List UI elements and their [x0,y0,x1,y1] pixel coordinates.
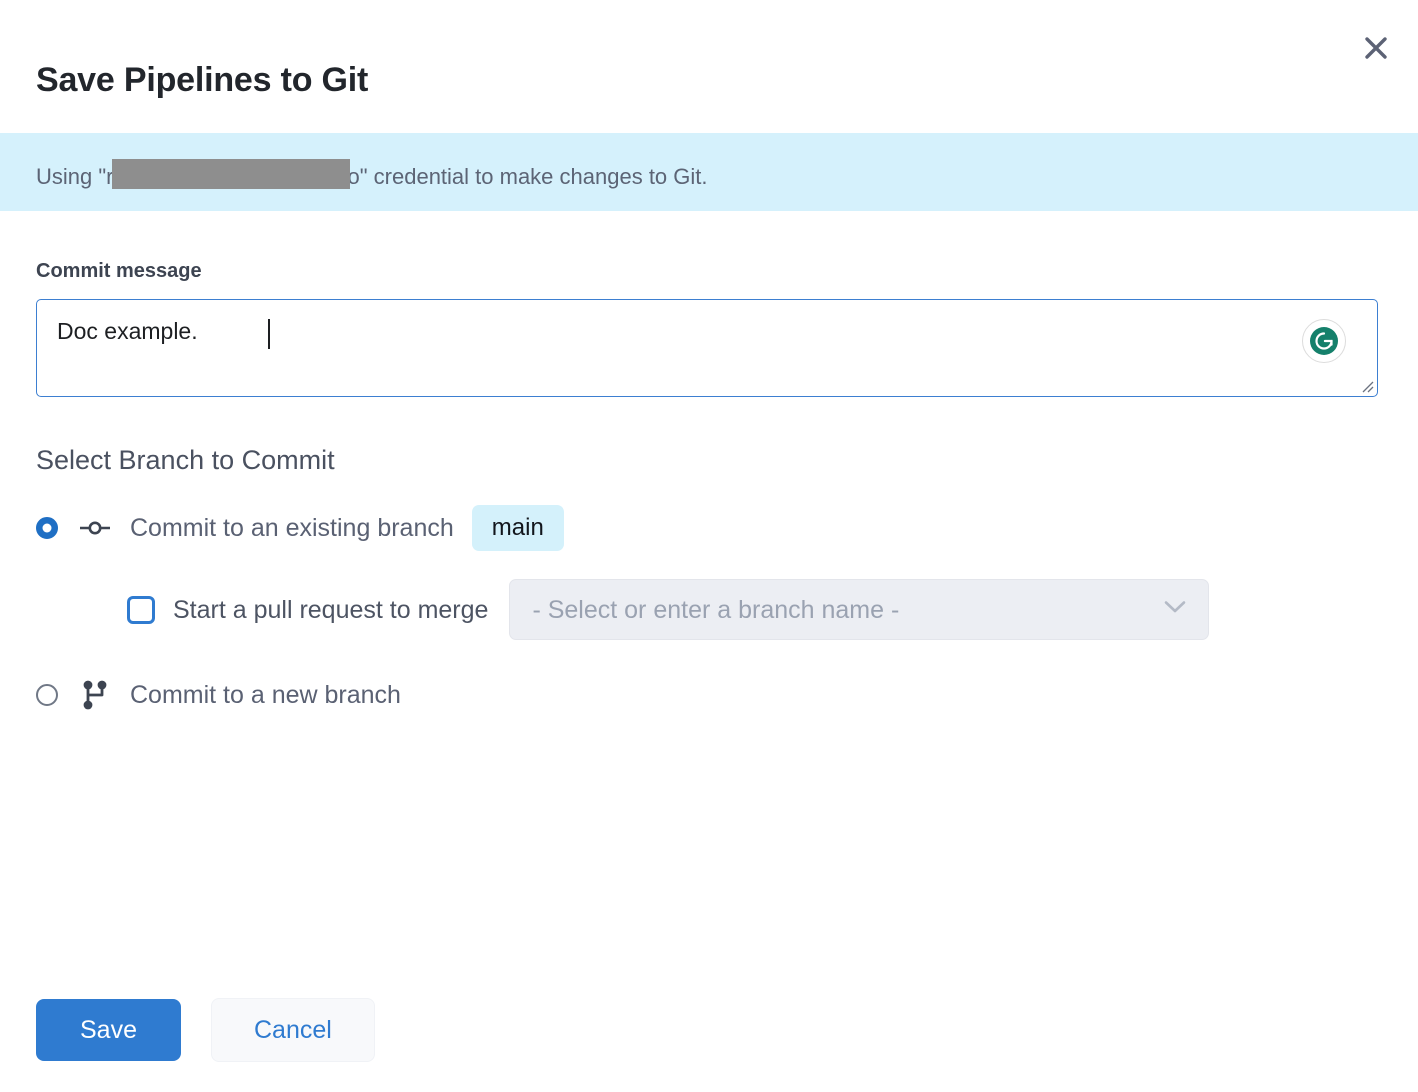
radio-existing-branch[interactable] [36,517,58,539]
close-icon [1363,35,1389,61]
textarea-resize-handle[interactable] [1358,377,1374,393]
banner-suffix-text: o" credential to make changes to Git. [348,164,708,190]
credential-info-banner: Using "ro" credential to make changes to… [0,133,1418,211]
text-cursor [268,319,270,349]
option-new-branch[interactable]: Commit to a new branch [36,680,1382,710]
commit-message-field[interactable] [36,299,1378,397]
page-title: Save Pipelines to Git [0,0,1418,102]
target-branch-select[interactable]: - Select or enter a branch name - [509,579,1209,640]
grammarly-icon[interactable] [1302,319,1346,363]
pull-request-row: Start a pull request to merge - Select o… [36,579,1382,640]
close-button[interactable] [1354,26,1398,70]
cancel-button[interactable]: Cancel [211,998,375,1062]
target-branch-placeholder: - Select or enter a branch name - [532,595,899,625]
pull-request-label: Start a pull request to merge [173,595,488,625]
radio-new-branch[interactable] [36,684,58,706]
git-commit-icon [80,519,110,537]
git-branch-icon [80,680,110,710]
save-button[interactable]: Save [36,999,181,1061]
option-existing-branch[interactable]: Commit to an existing branch main [36,505,1382,551]
pull-request-checkbox[interactable] [127,596,155,624]
branch-section-heading: Select Branch to Commit [36,443,1382,477]
chevron-down-icon [1164,600,1186,619]
banner-prefix-text: Using "r [36,164,114,190]
redaction-bar [112,159,350,189]
dialog-footer: Save Cancel [36,998,375,1062]
commit-message-input[interactable] [36,299,1378,397]
existing-branch-label: Commit to an existing branch [130,513,454,543]
commit-message-label: Commit message [36,259,1382,283]
new-branch-label: Commit to a new branch [130,680,401,710]
branch-badge-main[interactable]: main [472,505,564,551]
